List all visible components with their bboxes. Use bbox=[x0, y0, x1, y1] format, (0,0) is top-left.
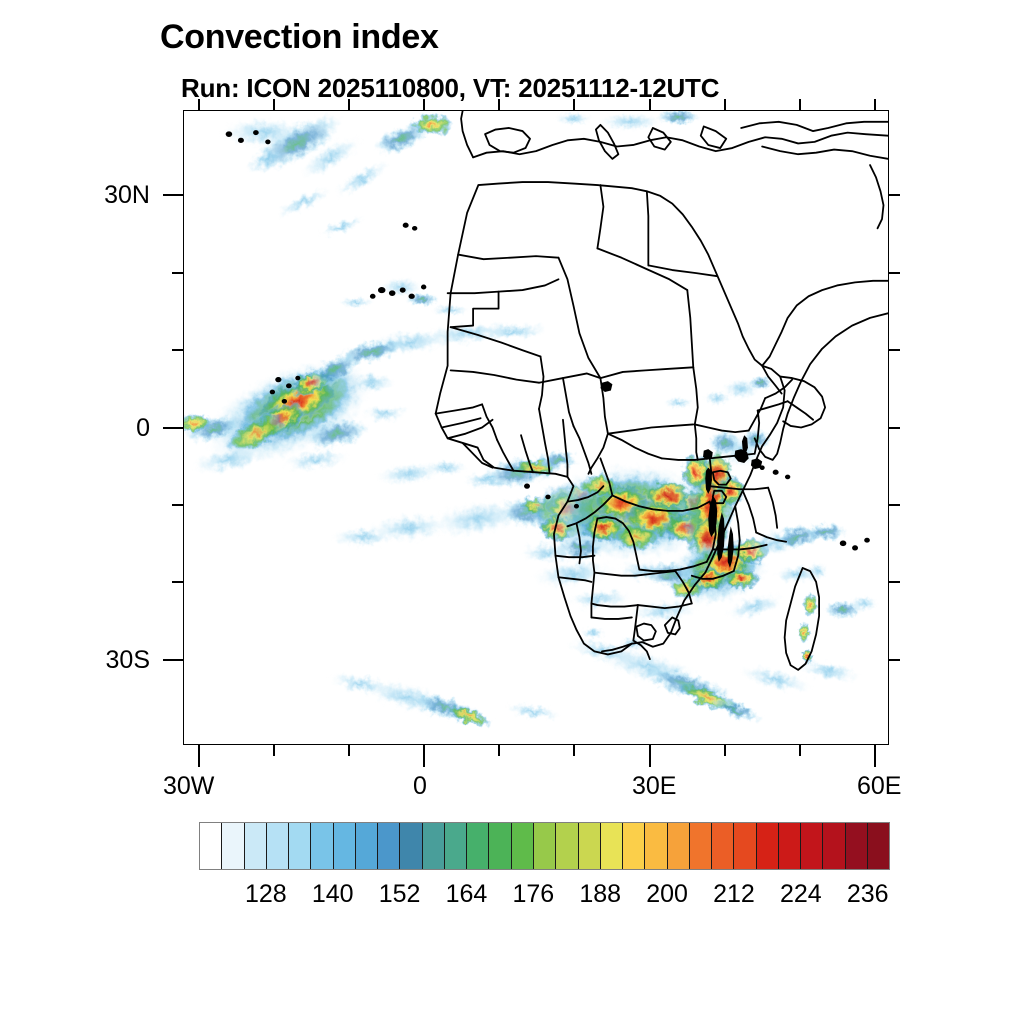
xtick-major-60e bbox=[874, 745, 876, 767]
page-title: Convection index bbox=[160, 18, 439, 57]
xtick-minor-50e bbox=[799, 745, 801, 756]
colorbar-cell bbox=[245, 823, 267, 869]
colorbar-tick-label: 212 bbox=[713, 880, 755, 909]
ytick-label-0: 0 bbox=[35, 414, 150, 443]
colorbar-cell bbox=[556, 823, 578, 869]
colorbar-cell bbox=[601, 823, 623, 869]
xtick-top-50e bbox=[799, 99, 801, 110]
xtick-major-0 bbox=[423, 745, 425, 767]
map-plot-area bbox=[183, 110, 889, 745]
colorbar-cell bbox=[445, 823, 467, 869]
colorbar-tick-label: 152 bbox=[379, 880, 421, 909]
ytick-label-30n: 30N bbox=[35, 181, 150, 210]
colorbar-cell bbox=[801, 823, 823, 869]
colorbar-cell bbox=[757, 823, 779, 869]
xtick-minor-10w bbox=[348, 745, 350, 756]
xtick-major-30w bbox=[198, 745, 200, 767]
colorbar-cell bbox=[534, 823, 556, 869]
xtick-top-30w bbox=[198, 99, 200, 110]
colorbar-tick-label: 200 bbox=[646, 880, 688, 909]
xtick-top-10w bbox=[348, 99, 350, 110]
colorbar-cell bbox=[668, 823, 690, 869]
colorbar-tick-label: 176 bbox=[512, 880, 554, 909]
colorbar-tick-label: 224 bbox=[780, 880, 822, 909]
ytick-major-30n bbox=[163, 194, 183, 196]
xtick-top-60e bbox=[874, 99, 876, 110]
colorbar-tick-label: 188 bbox=[579, 880, 621, 909]
ytick-major-0 bbox=[163, 427, 183, 429]
colorbar-cell bbox=[779, 823, 801, 869]
ytick-right-20s bbox=[889, 581, 900, 583]
colorbar-cell bbox=[512, 823, 534, 869]
xtick-label-0: 0 bbox=[413, 772, 427, 801]
colorbar-cell bbox=[623, 823, 645, 869]
colorbar-tick-label: 140 bbox=[312, 880, 354, 909]
xtick-label-30w: 30W bbox=[163, 772, 214, 801]
ytick-right-30s bbox=[889, 659, 900, 661]
ytick-right-10s bbox=[889, 504, 900, 506]
xtick-label-60e: 60E bbox=[857, 772, 901, 801]
ytick-right-30n bbox=[889, 194, 900, 196]
xtick-top-20e bbox=[573, 99, 575, 110]
colorbar-cell bbox=[823, 823, 845, 869]
colorbar-cell bbox=[311, 823, 333, 869]
ytick-right-0 bbox=[889, 427, 900, 429]
ytick-major-30s bbox=[163, 659, 183, 661]
colorbar-cell bbox=[467, 823, 489, 869]
colorbar-tick-label: 128 bbox=[245, 880, 287, 909]
colorbar-cell bbox=[645, 823, 667, 869]
colorbar-cell bbox=[400, 823, 422, 869]
xtick-minor-40e bbox=[724, 745, 726, 756]
colorbar-cell bbox=[356, 823, 378, 869]
xtick-minor-10e bbox=[498, 745, 500, 756]
colorbar-cell bbox=[734, 823, 756, 869]
colorbar-cell bbox=[846, 823, 868, 869]
run-valid-time-subtitle: Run: ICON 2025110800, VT: 20251112-12UTC bbox=[181, 73, 719, 104]
colorbar-cell bbox=[489, 823, 511, 869]
colorbar[interactable] bbox=[199, 822, 890, 870]
colorbar-cell bbox=[423, 823, 445, 869]
colorbar-tick-label: 164 bbox=[446, 880, 488, 909]
xtick-top-30e bbox=[649, 99, 651, 110]
xtick-top-20w bbox=[273, 99, 275, 110]
colorbar-cell bbox=[690, 823, 712, 869]
ytick-minor-10s bbox=[172, 504, 183, 506]
xtick-label-30e: 30E bbox=[632, 772, 676, 801]
ytick-minor-20s bbox=[172, 581, 183, 583]
colorbar-tick-label: 236 bbox=[847, 880, 889, 909]
colorbar-cell bbox=[289, 823, 311, 869]
colorbar-cell bbox=[200, 823, 222, 869]
colorbar-cell bbox=[868, 823, 889, 869]
colorbar-cell bbox=[222, 823, 244, 869]
ytick-label-30s: 30S bbox=[35, 646, 150, 675]
colorbar-cell bbox=[712, 823, 734, 869]
colorbar-cell bbox=[334, 823, 356, 869]
xtick-major-30e bbox=[649, 745, 651, 767]
ytick-minor-10n bbox=[172, 349, 183, 351]
xtick-minor-20e bbox=[573, 745, 575, 756]
xtick-minor-20w bbox=[273, 745, 275, 756]
colorbar-cell bbox=[267, 823, 289, 869]
xtick-top-0 bbox=[423, 99, 425, 110]
ytick-minor-20n bbox=[172, 272, 183, 274]
ytick-right-10n bbox=[889, 349, 900, 351]
colorbar-cell bbox=[579, 823, 601, 869]
xtick-top-40e bbox=[724, 99, 726, 110]
map-svg bbox=[184, 111, 888, 744]
ytick-right-20n bbox=[889, 272, 900, 274]
colorbar-cell bbox=[378, 823, 400, 869]
xtick-top-10e bbox=[498, 99, 500, 110]
